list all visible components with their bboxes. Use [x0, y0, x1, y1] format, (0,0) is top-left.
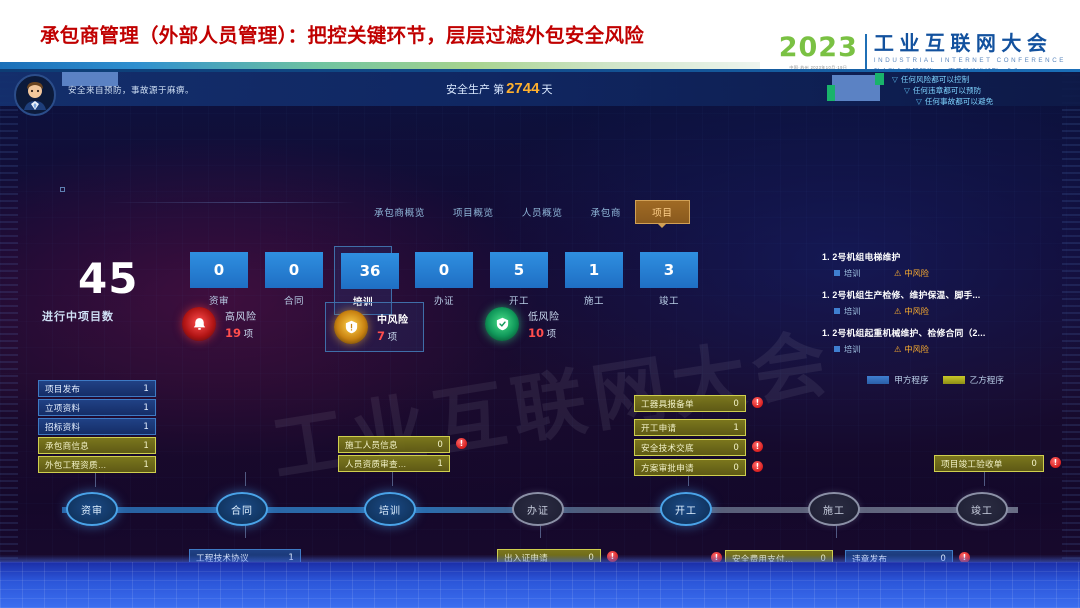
dashboard-nav: 承包商概览 项目概览 人员概览 承包商 项目	[360, 200, 690, 224]
legend-label: 乙方程序	[970, 374, 1004, 386]
legend-swatch-icon	[867, 376, 889, 384]
decor-square	[60, 187, 65, 192]
logo-year: 2023	[779, 34, 858, 61]
stat-value: 0	[190, 252, 248, 288]
card-label: 人员资质审查…	[345, 458, 431, 470]
task-risk: ⚠中风险	[894, 305, 929, 317]
stat-card-construction[interactable]: 1 施工	[565, 252, 623, 307]
card-count: 1	[137, 422, 149, 432]
left-edge-decor	[0, 72, 18, 608]
header-badge-graphic	[832, 75, 880, 101]
stat-label: 办证	[415, 293, 473, 307]
flow-card-project-acceptance[interactable]: 项目竣工验收单 0	[934, 455, 1044, 472]
timeline-node-completion[interactable]: 竣工	[956, 492, 1008, 526]
nav-item-personnel-overview[interactable]: 人员概览	[508, 200, 577, 224]
warning-triangle-icon: ⚠	[894, 344, 901, 354]
card-count: 1	[137, 384, 149, 394]
card-count: 1	[431, 459, 443, 469]
card-count: 1	[137, 441, 149, 451]
connector-stub	[245, 472, 246, 486]
legend-swatch-icon	[943, 376, 965, 384]
stage-marker-icon	[834, 270, 840, 276]
timeline-node-start-work[interactable]: 开工	[660, 492, 712, 526]
alert-badge-icon[interactable]: !	[752, 441, 763, 452]
stat-label: 施工	[565, 293, 623, 307]
dashboard-canvas: 工业互联网大会 安全来自预防，事故源于麻痹。 安全生产 第2744天 ▽任何风险…	[0, 72, 1080, 608]
warning-triangle-icon: ⚠	[894, 306, 901, 316]
dashboard-topbar: 安全来自预防，事故源于麻痹。 安全生产 第2744天 ▽任何风险都可以控制 ▽任…	[0, 72, 1080, 106]
motto-list: ▽任何风险都可以控制 ▽任何违章都可以预防 ▽任何事故都可以避免	[892, 74, 993, 108]
flow-card-bidding-docs[interactable]: 招标资料 1	[38, 418, 156, 435]
alert-badge-icon[interactable]: !	[752, 397, 763, 408]
safe-days-unit: 天	[541, 84, 552, 96]
list-item[interactable]: 1. 2号机组生产检修、维护保温、脚手... 培训 ⚠中风险	[822, 288, 1068, 317]
stat-card-permit[interactable]: 0 办证	[415, 252, 473, 307]
stat-value: 1	[565, 252, 623, 288]
floor-edge-glow	[0, 555, 1080, 562]
card-label: 安全技术交底	[641, 442, 727, 454]
safe-days-value: 2744	[506, 80, 539, 97]
legend: 甲方程序 乙方程序	[867, 374, 1004, 386]
card-count: 0	[727, 399, 739, 409]
motto-label: 任何事故都可以避免	[925, 97, 993, 106]
connector-stub	[836, 524, 837, 538]
task-stage: 培训	[834, 267, 894, 279]
flow-card-safety-briefing[interactable]: 安全技术交底 0	[634, 439, 746, 456]
stat-value: 0	[265, 252, 323, 288]
slide-header: 承包商管理（外部人员管理）：把控关键环节，层层过滤外包安全风险 2023 中国·…	[0, 0, 1080, 68]
kpi-label: 进行中项目数	[42, 308, 114, 324]
medium-risk-shield-icon	[334, 310, 368, 344]
avatar[interactable]	[14, 74, 56, 116]
stage-marker-icon	[834, 308, 840, 314]
risk-count: 19	[225, 326, 241, 340]
kpi-value: 45	[78, 254, 138, 303]
task-index: 1.	[822, 252, 830, 262]
card-count: 0	[431, 440, 443, 450]
stage-marker-icon	[834, 346, 840, 352]
stat-card-start-work[interactable]: 5 开工	[490, 252, 548, 307]
flow-card-personnel-qualification-review[interactable]: 人员资质审查… 1	[338, 455, 450, 472]
motto-label: 任何违章都可以预防	[913, 86, 981, 95]
alert-badge-icon[interactable]: !	[1050, 457, 1061, 468]
list-item[interactable]: 1. 2号机组电梯维护 培训 ⚠中风险	[822, 250, 1068, 279]
page-title: 承包商管理（外部人员管理）：把控关键环节，层层过滤外包安全风险	[40, 19, 644, 48]
flow-card-start-work-application[interactable]: 开工申请 1	[634, 419, 746, 436]
motto-item: ▽任何事故都可以避免	[892, 96, 993, 107]
flow-card-outsourcing-qualification[interactable]: 外包工程资质… 1	[38, 456, 156, 473]
safety-slogan: 安全来自预防，事故源于麻痹。	[68, 84, 194, 96]
bell-icon	[191, 316, 208, 333]
header-accent-rule	[0, 62, 760, 69]
task-risk: ⚠中风险	[894, 267, 929, 279]
stat-label: 竣工	[640, 293, 698, 307]
check-icon: ▽	[916, 96, 922, 107]
card-label: 开工申请	[641, 422, 727, 434]
logo-divider	[865, 34, 867, 70]
stat-card-shenzhen[interactable]: 0 资审	[190, 252, 248, 307]
low-risk-shield-icon	[485, 307, 519, 341]
stat-label: 开工	[490, 293, 548, 307]
card-count: 1	[727, 423, 739, 433]
card-count: 1	[137, 460, 149, 470]
nav-item-project-overview[interactable]: 项目概览	[439, 200, 508, 224]
stat-label: 资审	[190, 293, 248, 307]
stat-value: 5	[490, 252, 548, 288]
nav-item-contractor-overview[interactable]: 承包商概览	[360, 200, 439, 224]
stat-label: 合同	[265, 293, 323, 307]
card-label: 立项资料	[45, 402, 137, 414]
safe-days-label: 第	[493, 84, 504, 96]
check-icon: ▽	[892, 74, 898, 85]
flow-card-project-approval-docs[interactable]: 立项资料 1	[38, 399, 156, 416]
task-stage: 培训	[834, 305, 894, 317]
card-count: 0	[727, 443, 739, 453]
card-label: 工器具报备单	[641, 398, 727, 410]
stat-card-completion[interactable]: 3 竣工	[640, 252, 698, 307]
card-count: 0	[1025, 459, 1037, 469]
motto-label: 任何风险都可以控制	[901, 75, 969, 84]
card-label: 承包商信息	[45, 440, 137, 452]
risk-card-low[interactable]: 低风险 10 项	[485, 307, 560, 341]
risk-unit: 项	[244, 329, 254, 340]
flow-card-tool-registration[interactable]: 工器具报备单 0	[634, 395, 746, 412]
safe-production-days: 安全生产 第2744天	[446, 80, 552, 97]
user-avatar-icon	[20, 80, 50, 110]
task-title: 2号机组生产检修、维护保温、脚手...	[832, 290, 980, 300]
timeline-node-training[interactable]: 培训	[364, 492, 416, 526]
decor-divider	[105, 202, 355, 203]
risk-label: 高风险	[225, 308, 257, 323]
stat-card-contract[interactable]: 0 合同	[265, 252, 323, 307]
card-label: 招标资料	[45, 421, 137, 433]
nav-item-project[interactable]: 项目	[635, 200, 689, 224]
legend-label: 甲方程序	[894, 374, 928, 386]
flow-card-worker-info[interactable]: 施工人员信息 0	[338, 436, 450, 453]
flow-card-plan-approval-application[interactable]: 方案审批申请 0	[634, 459, 746, 476]
check-icon: ▽	[904, 85, 910, 96]
risk-card-high[interactable]: 高风险 19 项	[182, 307, 257, 341]
timeline-node-shenzhen[interactable]: 资审	[66, 492, 118, 526]
card-label: 方案审批申请	[641, 462, 727, 474]
risk-card-medium[interactable]: 中风险 7 项	[325, 302, 424, 352]
motto-item: ▽任何违章都可以预防	[892, 85, 993, 96]
risk-count: 7	[377, 329, 385, 343]
stat-value: 0	[415, 252, 473, 288]
list-item[interactable]: 1. 2号机组起重机械维护、检修合同（2... 培训 ⚠中风险	[822, 326, 1068, 355]
card-label: 项目竣工验收单	[941, 458, 1025, 470]
risk-unit: 项	[547, 329, 557, 340]
warning-triangle-icon: ⚠	[894, 268, 901, 278]
task-index: 1.	[822, 290, 830, 300]
risk-label: 中风险	[377, 311, 409, 326]
task-risk: ⚠中风险	[894, 343, 929, 355]
motto-item: ▽任何风险都可以控制	[892, 74, 993, 85]
legend-item-party-b: 乙方程序	[943, 374, 1004, 386]
stat-value: 36	[341, 253, 399, 289]
connector-stub	[245, 524, 246, 538]
risk-count: 10	[528, 326, 544, 340]
risk-unit: 项	[388, 332, 398, 343]
task-stage: 培训	[834, 343, 894, 355]
floor-grid	[0, 562, 1080, 608]
card-label: 项目发布	[45, 383, 137, 395]
nav-item-contractor[interactable]: 承包商	[577, 200, 636, 224]
high-risk-alarm-icon	[182, 307, 216, 341]
task-list: 1. 2号机组电梯维护 培训 ⚠中风险 1. 2号机组生产检修、维护保温、脚手.…	[822, 250, 1068, 364]
task-title: 2号机组电梯维护	[832, 252, 900, 262]
task-index: 1.	[822, 328, 830, 338]
connector-stub	[392, 472, 393, 486]
timeline-node-permit[interactable]: 办证	[512, 492, 564, 526]
card-count: 1	[137, 403, 149, 413]
shield-check-icon	[495, 316, 510, 332]
logo-title-cn: 工业互联网大会	[874, 34, 1066, 55]
connector-stub	[95, 473, 96, 487]
timeline-node-construction[interactable]: 施工	[808, 492, 860, 526]
logo-title-en: INDUSTRIAL INTERNET CONFERENCE	[874, 57, 1066, 64]
card-count: 0	[727, 463, 739, 473]
task-title: 2号机组起重机械维护、检修合同（2...	[832, 328, 985, 338]
flow-card-contractor-info[interactable]: 承包商信息 1	[38, 437, 156, 454]
card-label: 施工人员信息	[345, 439, 431, 451]
alert-badge-icon[interactable]: !	[752, 461, 763, 472]
shield-warning-icon	[344, 319, 359, 335]
connector-stub	[984, 472, 985, 486]
connector-stub	[540, 524, 541, 538]
timeline-node-contract[interactable]: 合同	[216, 492, 268, 526]
legend-item-party-a: 甲方程序	[867, 374, 928, 386]
flow-card-project-release[interactable]: 项目发布 1	[38, 380, 156, 397]
risk-label: 低风险	[528, 308, 560, 323]
card-label: 外包工程资质…	[45, 459, 137, 471]
stat-value: 3	[640, 252, 698, 288]
safe-days-prefix: 安全生产	[446, 84, 490, 96]
alert-badge-icon[interactable]: !	[456, 438, 467, 449]
